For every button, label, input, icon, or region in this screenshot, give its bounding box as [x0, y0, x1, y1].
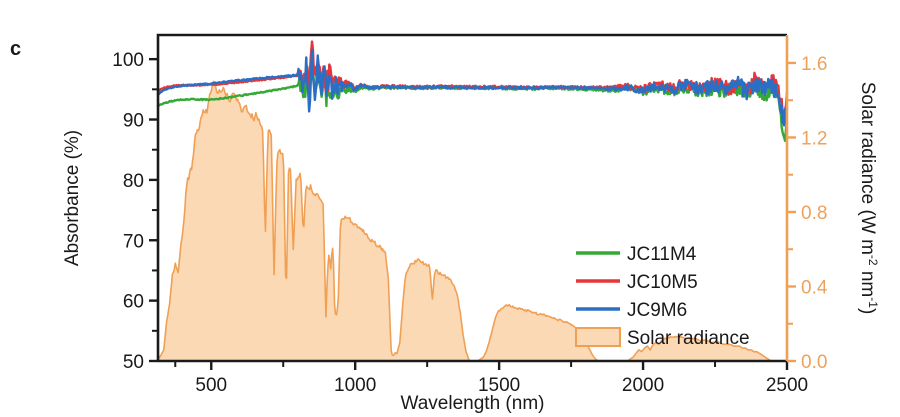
- absorbance-solar-spectrum-chart: 506070809010050010001500200025000.00.40.…: [0, 0, 900, 417]
- x-tick-label: 500: [195, 375, 227, 396]
- y-left-axis-title: Absorbance (%): [62, 130, 83, 266]
- legend-label: JC9M6: [627, 300, 687, 321]
- y-left-tick-label: 50: [123, 352, 144, 373]
- x-axis-title: Wavelength (nm): [401, 393, 545, 414]
- x-tick-label: 2500: [766, 375, 808, 396]
- y-left-tick-label: 100: [112, 50, 144, 71]
- legend: JC11M4JC10M5JC9M6Solar radiance: [576, 244, 750, 349]
- y-left-tick-label: 90: [123, 111, 144, 132]
- y-right-tick-label: 0.0: [801, 352, 827, 373]
- figure-panel-c: c 506070809010050010001500200025000.00.4…: [0, 0, 900, 417]
- legend-label: JC10M5: [627, 272, 698, 293]
- y-right-tick-label: 0.4: [801, 277, 828, 298]
- legend-swatch-Solar radiance: [576, 328, 620, 346]
- y-left-tick-label: 70: [123, 231, 144, 252]
- panel-label: c: [10, 38, 21, 61]
- y-right-axis-title: Solar radiance (W m-2 nm-1): [857, 82, 880, 315]
- legend-label: Solar radiance: [627, 328, 750, 349]
- x-tick-label: 1000: [334, 375, 376, 396]
- y-right-tick-label: 1.6: [801, 54, 827, 75]
- y-right-tick-label: 0.8: [801, 203, 827, 224]
- y-right-tick-label: 1.2: [801, 128, 827, 149]
- legend-label: JC11M4: [627, 244, 697, 265]
- x-tick-label: 2000: [622, 375, 664, 396]
- y-left-tick-label: 60: [123, 292, 144, 313]
- y-left-tick-label: 80: [123, 171, 144, 192]
